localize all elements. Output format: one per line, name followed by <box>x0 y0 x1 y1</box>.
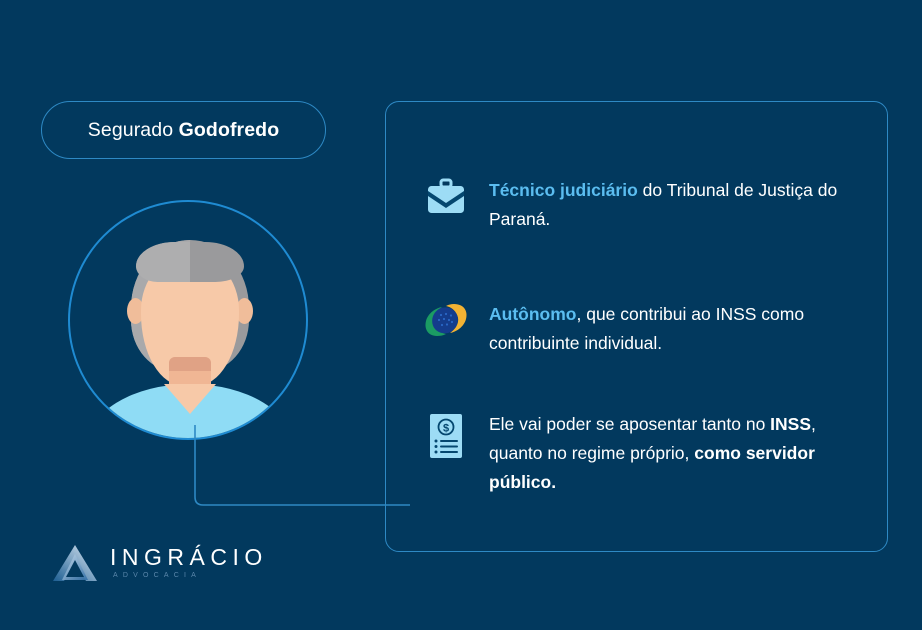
brazil-government-icon <box>423 300 469 338</box>
avatar-hairline-highlight <box>136 242 190 282</box>
info-item-autonomous: Autônomo, que contribui ao INSS como con… <box>423 300 861 358</box>
brand-wordmark: INGRÁCIO ADVOCACIA <box>110 545 268 581</box>
info-item-profession: Técnico judiciário do Tribunal de Justiç… <box>423 176 861 234</box>
info-item-autonomous-highlight: Autônomo <box>489 304 576 324</box>
info-item-retirement: $ Ele vai poder se aposentar tanto no IN… <box>423 410 861 497</box>
avatar-neck-shadow <box>169 357 211 371</box>
insured-name-prefix: Segurado <box>88 119 179 141</box>
info-item-profession-highlight: Técnico judiciário <box>489 180 638 200</box>
info-panel: Técnico judiciário do Tribunal de Justiç… <box>385 101 888 552</box>
briefcase-icon <box>423 176 469 216</box>
svg-text:$: $ <box>443 423 449 435</box>
insured-name-pill: Segurado Godofredo <box>41 101 326 159</box>
info-item-profession-text: Técnico judiciário do Tribunal de Justiç… <box>489 176 861 234</box>
info-item-retirement-part-1: Ele vai poder se aposentar tanto no <box>489 414 770 434</box>
document-money-icon: $ <box>423 410 469 460</box>
brand-subtitle: ADVOCACIA <box>110 570 268 581</box>
insured-name-label: Segurado Godofredo <box>88 119 279 142</box>
brand-name: INGRÁCIO <box>110 545 268 570</box>
avatar-figure <box>70 202 306 438</box>
info-item-retirement-text: Ele vai poder se aposentar tanto no INSS… <box>489 410 861 497</box>
insured-name-value: Godofredo <box>179 119 280 141</box>
info-item-autonomous-text: Autônomo, que contribui ao INSS como con… <box>489 300 861 358</box>
avatar <box>68 200 308 440</box>
triangle-logo-icon <box>50 542 100 584</box>
brand-logo: INGRÁCIO ADVOCACIA <box>50 542 268 584</box>
info-item-retirement-part-2: INSS <box>770 414 811 434</box>
infographic-canvas: Segurado Godofredo <box>0 0 922 630</box>
